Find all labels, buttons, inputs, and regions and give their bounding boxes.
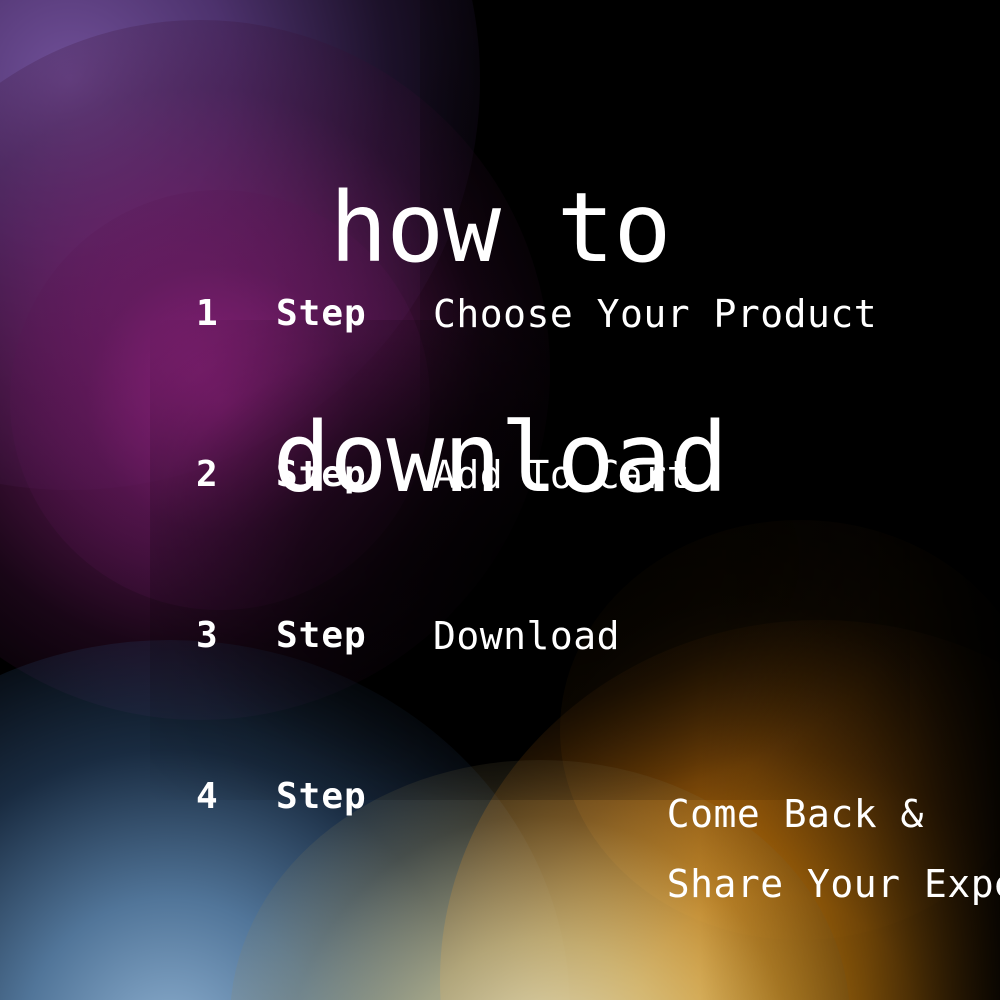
step-description-line-2: Share Your Experience [667, 862, 1000, 906]
step-label: Step [276, 769, 367, 825]
step-description-line-1: Come Back & [667, 792, 924, 836]
step-label: Step [276, 608, 367, 664]
step-description: Add To Cart [433, 447, 690, 503]
poster-canvas: how to download 1 Step Choose Your Produ… [0, 0, 1000, 1000]
step-item-1: 1 Step Choose Your Product [0, 286, 1000, 447]
step-description: Choose Your Product [433, 286, 877, 342]
step-item-3: 3 Step Download [0, 608, 1000, 769]
step-number: 3 [196, 608, 218, 664]
step-item-4: 4 Step Come Back & Share Your Experience [0, 769, 1000, 930]
step-number: 2 [196, 447, 218, 503]
page-title-line-1: how to [0, 190, 1000, 267]
step-label: Step [276, 286, 367, 342]
step-description: Download [433, 608, 620, 664]
step-number: 4 [196, 769, 218, 825]
step-label: Step [276, 447, 367, 503]
step-description: Come Back & Share Your Experience [433, 762, 1000, 937]
steps-list: 1 Step Choose Your Product 2 Step Add To… [0, 286, 1000, 930]
poster-content: how to download 1 Step Choose Your Produ… [0, 0, 1000, 1000]
step-number: 1 [196, 286, 218, 342]
step-item-2: 2 Step Add To Cart [0, 447, 1000, 608]
